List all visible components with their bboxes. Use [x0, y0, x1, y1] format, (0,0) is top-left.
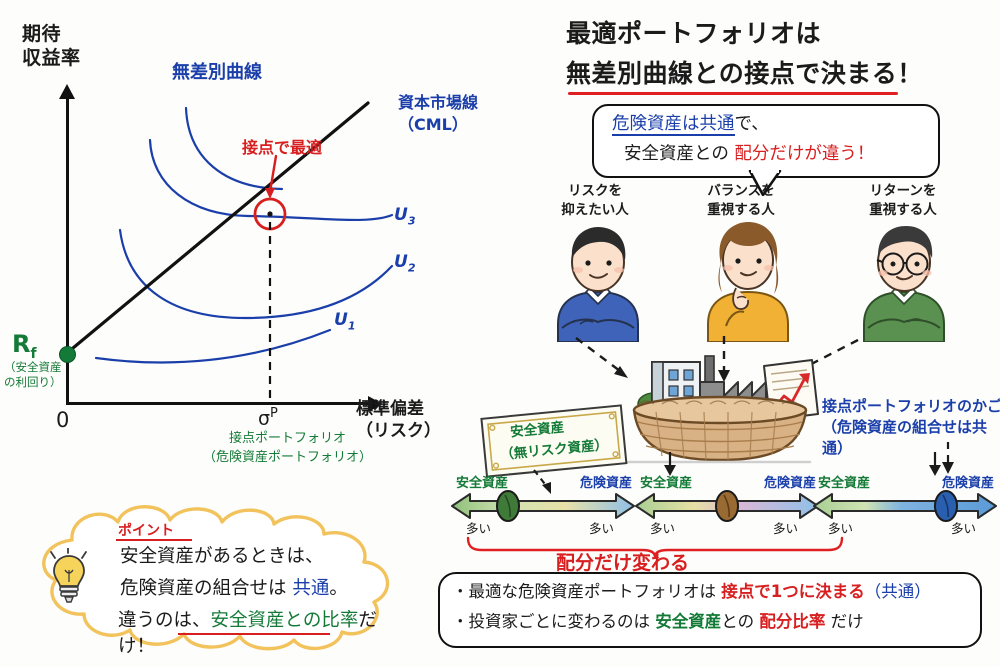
slider-2-knob[interactable]: [713, 488, 741, 524]
curve-label-u3: U3: [394, 205, 415, 227]
summary-line-2e: だけ: [825, 612, 863, 631]
slider-2-left-sub: 多い: [650, 518, 675, 537]
tangency-portfolio-label: 接点ポートフォリオ （危険資産ポートフォリオ）: [190, 430, 385, 468]
page-title-underline: [568, 92, 898, 95]
slider-2-right-sub: 多い: [773, 518, 798, 537]
slider-3-left-sub: 多い: [828, 518, 853, 537]
curve-label-u2: U2: [394, 252, 415, 274]
rf-sublabel-line1: （安全資産: [4, 360, 70, 375]
risk-return-chart: 期待 収益率 標準偏差 （リスク） 0 Rf （安全資産 の利回り） σP 接点…: [0, 0, 470, 500]
lightbulb-icon: [46, 548, 92, 606]
person-label-risk-averse-line1: リスクを: [530, 182, 660, 201]
person-return-seeking-illustration: [846, 218, 962, 342]
point-line-1: 安全資産があるときは、: [120, 542, 324, 568]
point-line-3a: 違うのは、: [118, 610, 211, 631]
summary-line-1c: （共通）: [865, 582, 931, 601]
summary-line-1a: ・最適な危険資産ポートフォリオは: [452, 582, 721, 601]
bubble-line-1-highlight: 危険資産は共通: [612, 114, 735, 136]
cml-title-line2: （CML）: [398, 114, 508, 136]
person-label-return-seeking-line1: リターンを: [838, 182, 968, 201]
summary-line-2-safe: 安全資産: [655, 612, 721, 631]
page-title-line2: 無差別曲線との接点で決まる！: [566, 54, 923, 90]
slider-1-knob[interactable]: [494, 488, 522, 524]
person-label-return-seeking: リターンを 重視する人: [838, 182, 968, 220]
indifference-curve-title: 無差別曲線: [172, 58, 262, 84]
y-axis-label-line1: 期待: [22, 22, 132, 46]
cml-title: 資本市場線 （CML）: [398, 92, 508, 135]
basket-annotation: 接点ポートフォリオのかご （危険資産の組合せは共通）: [822, 396, 1000, 459]
curve-label-u1: U1: [334, 310, 355, 332]
summary-line-1: ・最適な危険資産ポートフォリオは 接点で1つに決まる（共通）: [452, 578, 931, 602]
person-label-risk-averse-line2: 抑えたい人: [530, 201, 660, 220]
slider-2-right-label: 危険資産: [764, 472, 816, 491]
summary-line-2-ratio: 配分比率: [759, 612, 825, 631]
slider-3-left-label: 安全資産: [818, 472, 870, 491]
summary-line-2c: との: [721, 612, 759, 631]
summary-line-2: ・投資家ごとに変わるのは 安全資産との 配分比率 だけ: [452, 608, 864, 632]
person-risk-averse-illustration: [540, 218, 656, 342]
summary-line-2a: ・投資家ごとに変わるのは: [452, 612, 655, 631]
bubble-line-2a: 安全資産との: [624, 144, 734, 164]
point-line-2c: 。: [329, 578, 348, 599]
person-balanced-illustration: [690, 214, 806, 342]
rf-point-marker: [59, 346, 76, 363]
rf-sublabel: （安全資産 の利回り）: [4, 360, 70, 390]
page-title-line1: 最適ポートフォリオは: [566, 14, 821, 50]
person-label-return-seeking-line2: 重視する人: [838, 201, 968, 220]
sigma-p-label: σP: [258, 406, 278, 429]
allocation-note: 配分だけ変わる: [556, 548, 689, 575]
bubble-line-1: 危険資産は共通で、: [612, 110, 769, 135]
tangency-portfolio-line2: （危険資産ポートフォリオ）: [190, 449, 385, 468]
point-line-2: 危険資産の組合せは 共通。: [120, 574, 348, 600]
bubble-line-2: 安全資産との 配分だけが違う！: [624, 140, 874, 165]
slider-1-left-sub: 多い: [466, 518, 491, 537]
tangency-annotation: 接点で最適: [242, 134, 322, 158]
point-tag-underline: [116, 539, 192, 541]
rf-label: Rf: [12, 330, 37, 362]
tangency-portfolio-line1: 接点ポートフォリオ: [190, 430, 385, 449]
slider-1-right-sub: 多い: [589, 518, 614, 537]
slider-2-pointer-arrow: [660, 452, 680, 478]
origin-label: 0: [56, 408, 69, 432]
slider-3-pointer-arrow: [925, 452, 945, 478]
y-axis-label-line2: 収益率: [22, 46, 132, 70]
tangency-portfolio-basket: [614, 348, 826, 466]
point-line-2-highlight: 共通: [292, 578, 329, 599]
y-axis-label: 期待 収益率: [22, 22, 132, 71]
person-label-balanced-line1: バランスを: [676, 182, 806, 201]
point-line-3-underline: [178, 633, 330, 635]
point-line-3: 違うのは、安全資産との比率だけ！: [118, 606, 410, 658]
slider-3-right-sub: 多い: [951, 518, 976, 537]
person-label-risk-averse: リスクを 抑えたい人: [530, 182, 660, 220]
summary-line-1-highlight: 接点で1つに決まる: [721, 582, 864, 601]
bubble-line-2-highlight: 配分だけが違う！: [734, 144, 874, 164]
basket-annotation-line2: （危険資産の組合せは共通）: [822, 417, 1000, 459]
rf-sublabel-line2: の利回り）: [4, 375, 70, 390]
basket-annotation-line1: 接点ポートフォリオのかご: [822, 396, 1000, 417]
slider-1-right-label: 危険資産: [580, 472, 632, 491]
cml-title-line1: 資本市場線: [398, 92, 508, 114]
point-tag-label: ポイント: [118, 520, 174, 540]
x-axis-label-line1: 標準偏差: [356, 398, 466, 420]
point-line-3-highlight: 安全資産との比率: [211, 610, 359, 631]
point-callout-cloud: ポイント 安全資産があるときは、 危険資産の組合せは 共通。 違うのは、安全資産…: [18, 500, 410, 652]
point-line-2a: 危険資産の組合せは: [120, 578, 292, 599]
bubble-line-1b: で、: [735, 114, 769, 134]
